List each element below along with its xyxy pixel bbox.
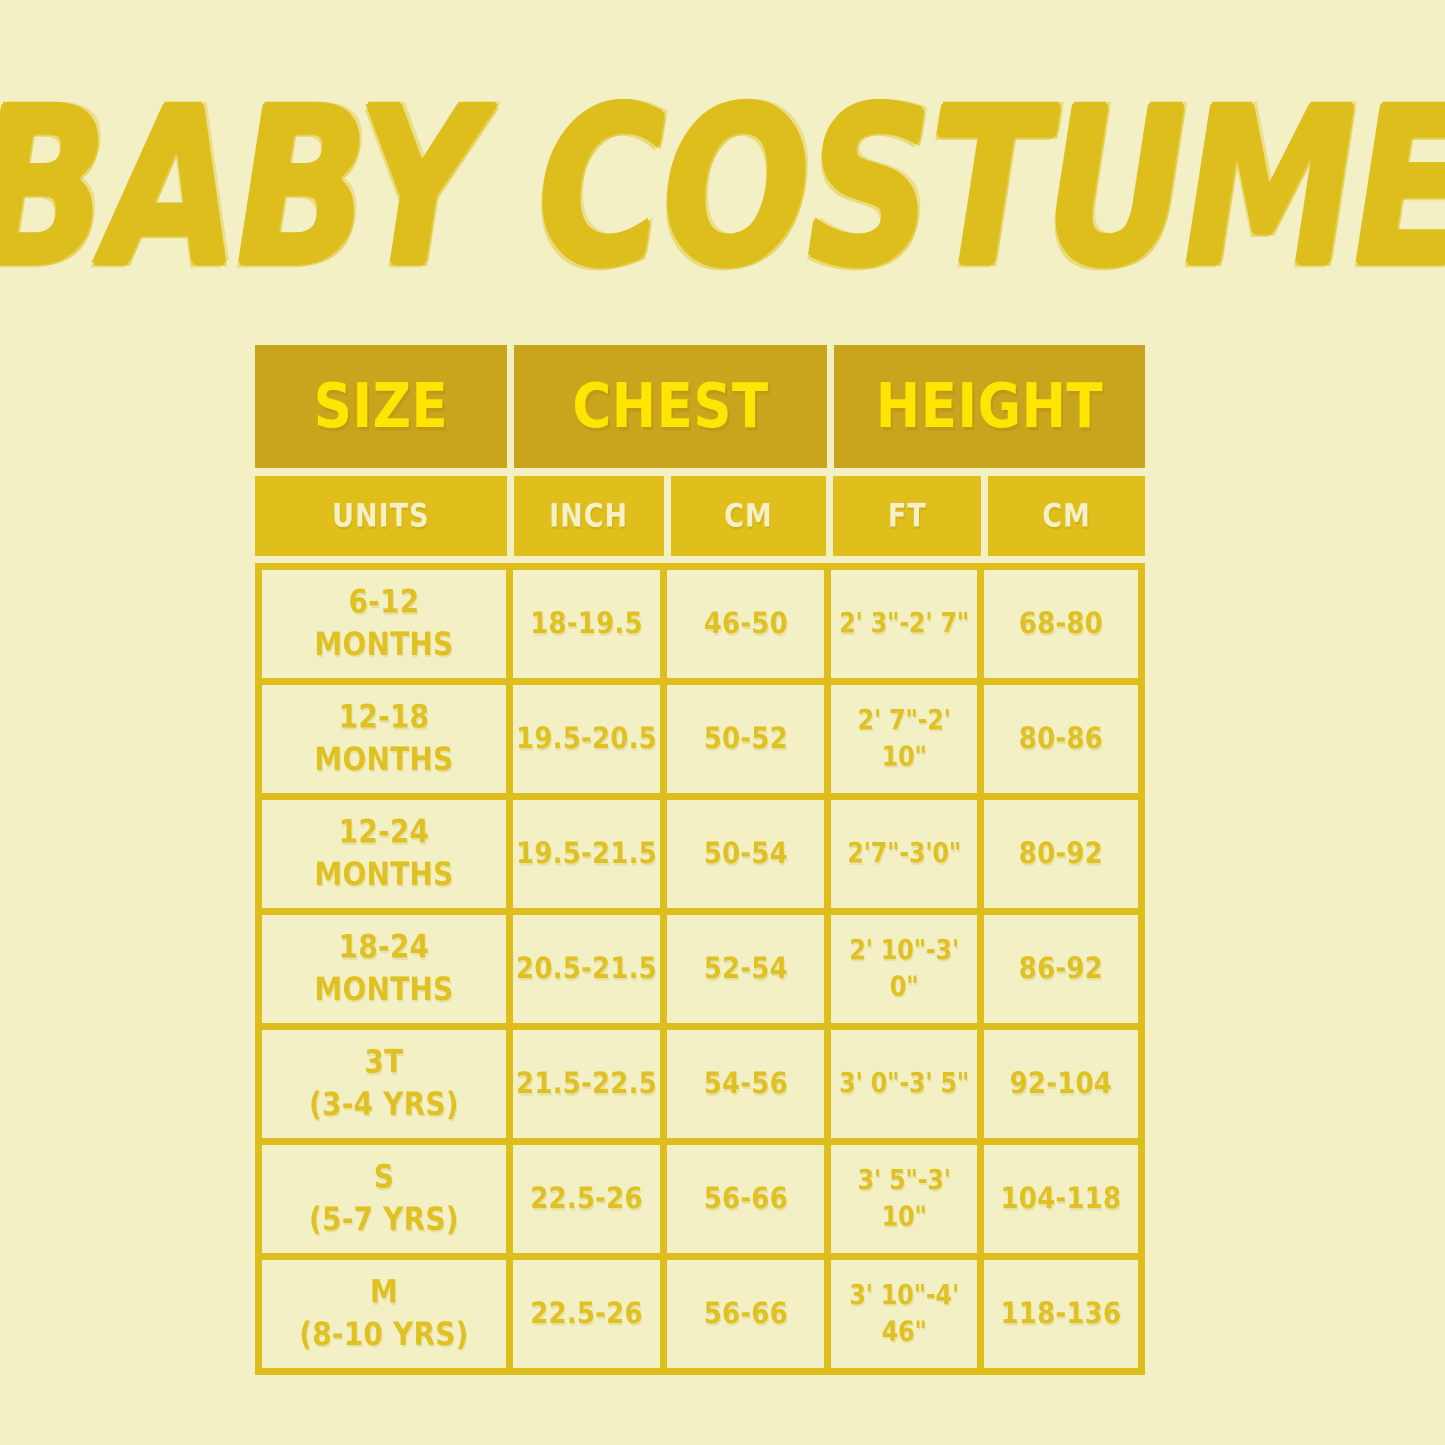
cell-chest-inch: 21.5-22.5 xyxy=(513,1030,660,1138)
cell-height-cm-text: 86-92 xyxy=(1019,949,1103,988)
cell-height-cm-text: 68-80 xyxy=(1019,604,1103,643)
sub-header-units: UNITS xyxy=(255,476,507,556)
table-body: 6-12 MONTHS18-19.546-502' 3"-2' 7"68-801… xyxy=(255,563,1145,1375)
cell-height-cm-text: 118-136 xyxy=(1001,1294,1122,1333)
cell-chest-inch-text: 18-19.5 xyxy=(530,604,643,643)
cell-chest-cm-text: 54-56 xyxy=(704,1064,788,1103)
cell-height-ft-text: 2'7"-3'0" xyxy=(847,836,961,872)
page-title-text: BABY COSTUME xyxy=(0,85,1445,291)
cell-height-cm: 104-118 xyxy=(984,1145,1138,1253)
cell-chest-inch-text: 22.5-26 xyxy=(530,1294,643,1333)
table-row: 3T (3-4 YRS)21.5-22.554-563' 0"-3' 5"92-… xyxy=(262,1030,1138,1138)
cell-height-cm: 80-92 xyxy=(984,800,1138,908)
cell-chest-inch-text: 19.5-21.5 xyxy=(516,834,657,873)
cell-size-text: 18-24 MONTHS xyxy=(314,927,453,1011)
cell-chest-cm-text: 50-54 xyxy=(704,834,788,873)
table-row: S (5-7 YRS)22.5-2656-663' 5"-3' 10"104-1… xyxy=(262,1145,1138,1253)
size-chart-table: SIZE CHEST HEIGHT UNITS INCH CM FT xyxy=(255,345,1145,1375)
table-row: 6-12 MONTHS18-19.546-502' 3"-2' 7"68-80 xyxy=(262,570,1138,678)
cell-chest-cm-text: 56-66 xyxy=(704,1179,788,1218)
cell-chest-inch-text: 21.5-22.5 xyxy=(516,1064,657,1103)
table-row: 12-18 MONTHS19.5-20.550-522' 7"-2' 10"80… xyxy=(262,685,1138,793)
cell-chest-cm: 50-52 xyxy=(667,685,824,793)
page-title: BABY COSTUME xyxy=(0,78,1445,298)
cell-height-cm: 92-104 xyxy=(984,1030,1138,1138)
cell-height-ft: 3' 0"-3' 5" xyxy=(831,1030,976,1138)
sub-header-height-cm-label: CM xyxy=(1042,498,1091,535)
cell-size-text: 6-12 MONTHS xyxy=(314,582,453,666)
table-row: 12-24 MONTHS19.5-21.550-542'7"-3'0"80-92 xyxy=(262,800,1138,908)
cell-chest-inch-text: 22.5-26 xyxy=(530,1179,643,1218)
cell-chest-cm: 50-54 xyxy=(667,800,824,908)
cell-size: S (5-7 YRS) xyxy=(262,1145,506,1253)
group-header-height-label: HEIGHT xyxy=(876,371,1103,442)
cell-chest-cm: 54-56 xyxy=(667,1030,824,1138)
cell-chest-inch-text: 19.5-20.5 xyxy=(516,719,657,758)
cell-size: M (8-10 YRS) xyxy=(262,1260,506,1368)
cell-chest-cm: 56-66 xyxy=(667,1145,824,1253)
cell-height-ft: 2' 7"-2' 10" xyxy=(831,685,976,793)
cell-chest-inch: 22.5-26 xyxy=(513,1260,660,1368)
sub-header-height-ft-label: FT xyxy=(888,498,927,535)
cell-chest-cm-text: 50-52 xyxy=(704,719,788,758)
group-header-chest-label: CHEST xyxy=(572,371,768,442)
table-group-header-row: SIZE CHEST HEIGHT xyxy=(255,345,1145,468)
cell-chest-inch: 19.5-20.5 xyxy=(513,685,660,793)
cell-size: 3T (3-4 YRS) xyxy=(262,1030,506,1138)
cell-size-text: S (5-7 YRS) xyxy=(309,1157,459,1241)
cell-height-cm: 118-136 xyxy=(984,1260,1138,1368)
cell-chest-inch: 18-19.5 xyxy=(513,570,660,678)
table-row: M (8-10 YRS)22.5-2656-663' 10"-4' 46"118… xyxy=(262,1260,1138,1368)
cell-chest-cm-text: 52-54 xyxy=(704,949,788,988)
cell-height-cm-text: 92-104 xyxy=(1010,1064,1112,1103)
sub-header-chest-inch: INCH xyxy=(514,476,664,556)
sub-header-chest-cm: CM xyxy=(671,476,827,556)
cell-height-ft-text: 3' 5"-3' 10" xyxy=(833,1163,974,1235)
cell-chest-inch-text: 20.5-21.5 xyxy=(516,949,657,988)
group-header-chest: CHEST xyxy=(514,345,827,468)
table-sub-header-row: UNITS INCH CM FT CM xyxy=(255,476,1145,556)
cell-chest-cm: 52-54 xyxy=(667,915,824,1023)
cell-chest-inch: 19.5-21.5 xyxy=(513,800,660,908)
cell-chest-cm-text: 46-50 xyxy=(704,604,788,643)
cell-chest-cm: 56-66 xyxy=(667,1260,824,1368)
cell-size: 12-24 MONTHS xyxy=(262,800,506,908)
cell-height-ft-text: 2' 7"-2' 10" xyxy=(833,703,974,775)
cell-height-ft: 2'7"-3'0" xyxy=(831,800,976,908)
cell-height-cm-text: 80-92 xyxy=(1019,834,1103,873)
cell-size: 6-12 MONTHS xyxy=(262,570,506,678)
cell-chest-inch: 22.5-26 xyxy=(513,1145,660,1253)
cell-size-text: 3T (3-4 YRS) xyxy=(309,1042,459,1126)
group-header-height: HEIGHT xyxy=(834,345,1145,468)
cell-height-cm-text: 80-86 xyxy=(1019,719,1103,758)
cell-size: 12-18 MONTHS xyxy=(262,685,506,793)
sub-header-height-ft: FT xyxy=(833,476,981,556)
cell-size: 18-24 MONTHS xyxy=(262,915,506,1023)
sub-header-chest-cm-label: CM xyxy=(724,498,773,535)
size-chart-page: BABY COSTUME SIZE CHEST HEIGHT UNITS INC… xyxy=(0,0,1445,1445)
sub-header-height-cm: CM xyxy=(988,476,1145,556)
cell-height-cm: 68-80 xyxy=(984,570,1138,678)
cell-size-text: 12-18 MONTHS xyxy=(314,697,453,781)
cell-height-ft-text: 3' 10"-4' 46" xyxy=(833,1278,974,1350)
group-header-size: SIZE xyxy=(255,345,507,468)
cell-height-ft-text: 2' 10"-3' 0" xyxy=(833,933,974,1005)
cell-height-ft-text: 3' 0"-3' 5" xyxy=(839,1066,969,1102)
cell-chest-cm: 46-50 xyxy=(667,570,824,678)
sub-header-chest-inch-label: INCH xyxy=(549,498,628,535)
cell-size-text: M (8-10 YRS) xyxy=(299,1272,468,1356)
cell-height-cm-text: 104-118 xyxy=(1001,1179,1122,1218)
cell-height-ft: 3' 5"-3' 10" xyxy=(831,1145,976,1253)
group-header-size-label: SIZE xyxy=(314,371,449,442)
cell-height-cm: 86-92 xyxy=(984,915,1138,1023)
cell-chest-inch: 20.5-21.5 xyxy=(513,915,660,1023)
cell-height-ft-text: 2' 3"-2' 7" xyxy=(839,606,969,642)
cell-height-ft: 3' 10"-4' 46" xyxy=(831,1260,976,1368)
sub-header-units-label: UNITS xyxy=(332,498,429,535)
cell-height-cm: 80-86 xyxy=(984,685,1138,793)
cell-size-text: 12-24 MONTHS xyxy=(314,812,453,896)
cell-chest-cm-text: 56-66 xyxy=(704,1294,788,1333)
cell-height-ft: 2' 10"-3' 0" xyxy=(831,915,976,1023)
cell-height-ft: 2' 3"-2' 7" xyxy=(831,570,976,678)
table-row: 18-24 MONTHS20.5-21.552-542' 10"-3' 0"86… xyxy=(262,915,1138,1023)
